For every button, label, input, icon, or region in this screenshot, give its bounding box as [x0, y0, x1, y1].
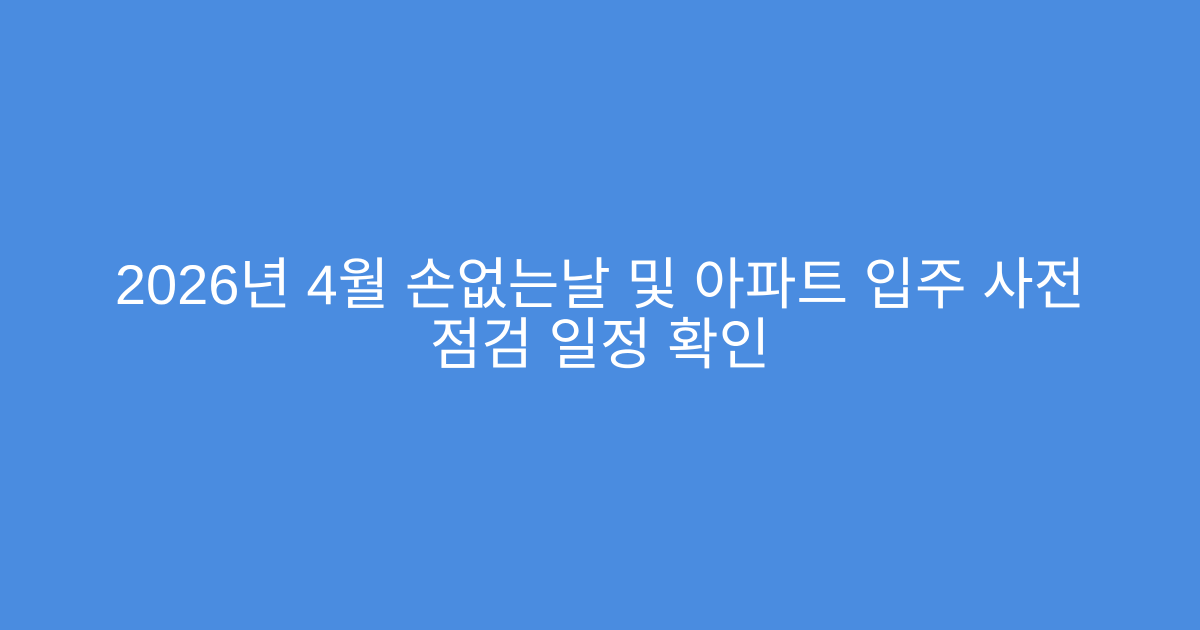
- title-container: 2026년 4월 손없는날 및 아파트 입주 사전 점검 일정 확인: [95, 255, 1105, 375]
- page-title: 2026년 4월 손없는날 및 아파트 입주 사전 점검 일정 확인: [95, 255, 1105, 375]
- og-card-canvas: 2026년 4월 손없는날 및 아파트 입주 사전 점검 일정 확인: [0, 0, 1200, 630]
